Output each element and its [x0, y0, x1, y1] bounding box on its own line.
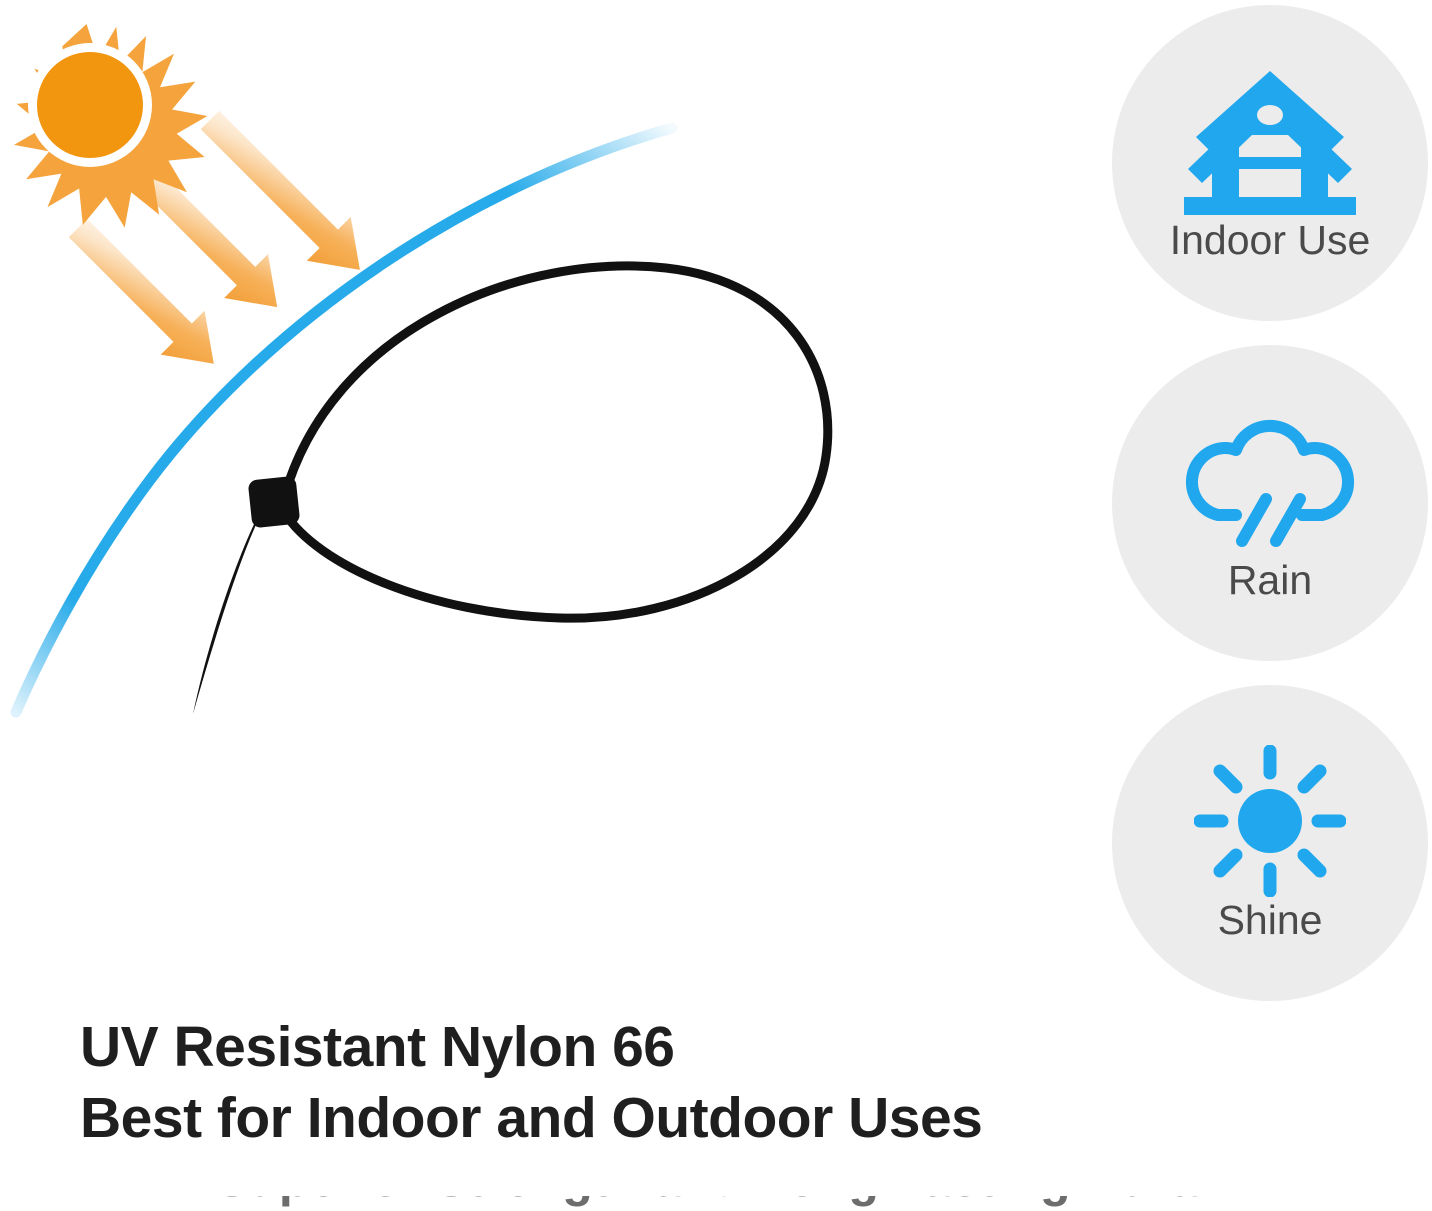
badge-shine[interactable]: Shine — [1112, 685, 1428, 1001]
rain-cloud-icon — [1184, 406, 1356, 556]
headline-line-1: UV Resistant Nylon 66 — [80, 1012, 1080, 1083]
badge-rain[interactable]: Rain — [1112, 345, 1428, 661]
headline-block: UV Resistant Nylon 66 Best for Indoor an… — [80, 1012, 1080, 1154]
badge-label: Rain — [1228, 560, 1312, 601]
clipped-subtext-label: Superior Strength and Long Lasting Durab… — [215, 1196, 1215, 1204]
badge-label: Indoor Use — [1170, 220, 1371, 261]
sun-icon — [1194, 746, 1346, 896]
house-icon — [1182, 66, 1358, 216]
headline-line-2: Best for Indoor and Outdoor Uses — [80, 1083, 1080, 1154]
uv-resistance-illustration — [0, 0, 900, 760]
protective-arc — [16, 128, 672, 712]
feature-badge-list: Indoor Use Rain — [1112, 5, 1432, 1001]
clipped-subtext: Superior Strength and Long Lasting Durab… — [215, 1196, 1215, 1211]
badge-indoor-use[interactable]: Indoor Use — [1112, 5, 1428, 321]
product-infographic: Indoor Use Rain — [0, 0, 1432, 1211]
badge-label: Shine — [1218, 900, 1323, 941]
